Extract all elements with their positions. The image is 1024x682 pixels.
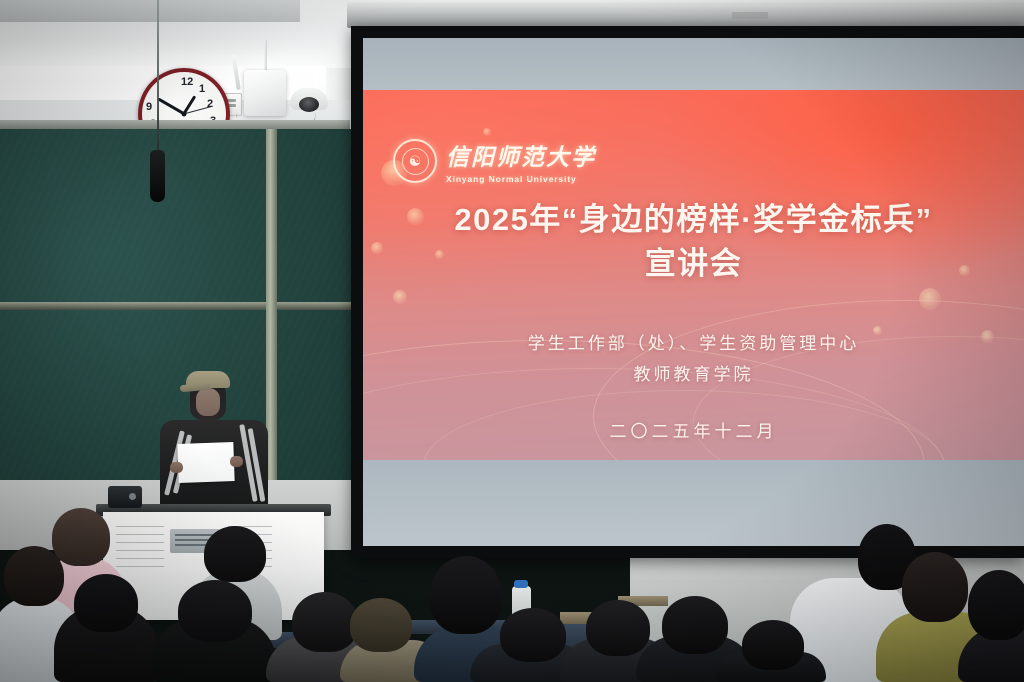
chalkboard-top-ledge: [0, 120, 350, 129]
slide-title: 2025年“身边的榜样·奖学金标兵” 宣讲会: [363, 198, 1024, 286]
audience-head: [292, 592, 358, 652]
audience-head: [662, 596, 728, 654]
slide-date: 二〇二五年十二月: [363, 417, 1024, 442]
organizer-line-2: 教师教育学院: [363, 359, 1024, 390]
presentation-slide: ☯ 信阳师范大学 Xinyang Normal University 2025年…: [363, 90, 1024, 460]
audience-head: [178, 580, 252, 642]
podium-monitor: [108, 486, 142, 508]
clock-numeral: 9: [146, 101, 152, 113]
microphone-icon: [150, 150, 165, 202]
clock-numeral: 12: [181, 76, 193, 88]
projection-screen: ☯ 信阳师范大学 Xinyang Normal University 2025年…: [363, 38, 1024, 546]
microphone-wire: [157, 0, 159, 152]
emblem-figures-icon: ☯: [402, 148, 429, 175]
audience-head: [586, 600, 650, 656]
audience-head: [430, 556, 502, 634]
wall-upper-left: [0, 22, 360, 68]
presenter-hand-right: [230, 456, 243, 467]
screen-letterbox-bottom: [363, 460, 1024, 546]
chalkboard-rail-horizontal: [0, 302, 352, 310]
clock-numeral: 1: [199, 83, 205, 95]
clock-numeral: 2: [207, 98, 213, 110]
podium-text-lines: [116, 526, 164, 568]
housing-brand-label: [732, 12, 768, 19]
clock-center-pin: [182, 112, 187, 117]
wifi-router-icon: [244, 70, 286, 116]
paper-sheet: [177, 442, 234, 483]
slide-title-line1: 2025年“身边的榜样·奖学金标兵”: [363, 198, 1024, 242]
audience-head: [968, 570, 1024, 640]
projection-screen-housing: [347, 2, 1024, 28]
audience-head: [500, 608, 566, 662]
audience-head: [52, 508, 110, 566]
slide-organizers: 学生工作部（处）、学生资助管理中心 教师教育学院: [363, 328, 1024, 391]
bottle-cap: [514, 580, 528, 588]
camera-lens-icon: [299, 97, 319, 112]
audience-head: [902, 552, 968, 622]
university-name-cn: 信阳师范大学: [446, 138, 596, 172]
presenter-hand-left: [170, 462, 183, 473]
audience-head: [4, 546, 64, 606]
organizer-line-1: 学生工作部（处）、学生资助管理中心: [363, 328, 1024, 359]
university-logo: ☯ 信阳师范大学 Xinyang Normal University: [393, 138, 596, 184]
audience-head: [74, 574, 138, 632]
audience-head: [350, 598, 412, 652]
university-name-en: Xinyang Normal University: [446, 174, 596, 184]
audience-head: [204, 526, 266, 582]
screen-letterbox-top: [363, 38, 1024, 90]
bokeh-dot: [393, 290, 407, 304]
presenter-face: [196, 388, 220, 416]
university-emblem-icon: ☯: [393, 139, 437, 183]
lecture-hall-scene: 12 1 2 3 4 5 6 7 8 9: [0, 0, 1024, 682]
bokeh-dot: [483, 128, 491, 136]
slide-title-line2: 宣讲会: [363, 242, 1024, 286]
audience-head: [742, 620, 804, 670]
